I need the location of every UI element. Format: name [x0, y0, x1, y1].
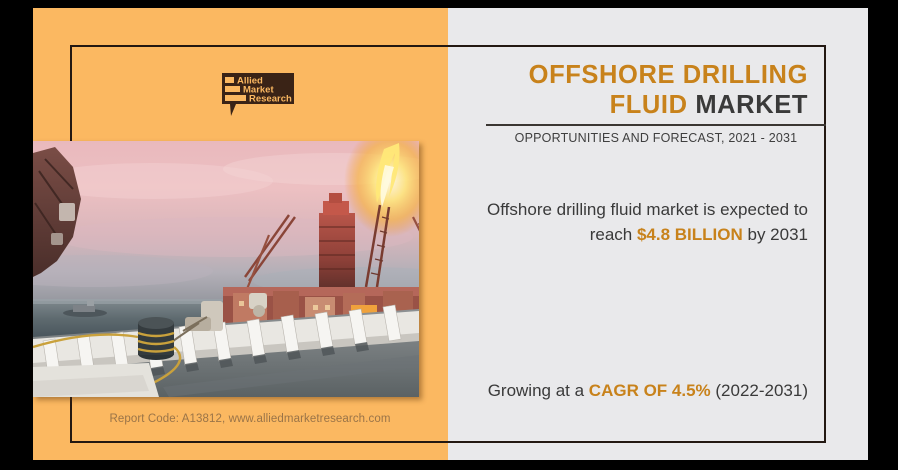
stat-2-suffix: (2022-2031): [711, 381, 808, 400]
stat-1-suffix: by 2031: [743, 225, 808, 244]
stat-1-highlight: $4.8 BILLION: [637, 225, 743, 244]
title-line-1: OFFSHORE DRILLING: [468, 60, 808, 90]
stat-2-highlight: CAGR OF 4.5%: [589, 381, 711, 400]
allied-market-research-logo: Allied Market Research: [220, 72, 296, 118]
stat-2-prefix: Growing at a: [488, 381, 589, 400]
title-accent-2: FLUID: [610, 91, 688, 119]
report-code-caption: Report Code: A13812, www.alliedmarketres…: [70, 413, 430, 425]
stat-cagr: Growing at a CAGR OF 4.5% (2022-2031): [476, 377, 808, 404]
logo-line-3: Research: [249, 94, 292, 105]
page-title: OFFSHORE DRILLING FLUID MARKET: [468, 60, 808, 120]
stat-market-value: Offshore drilling fluid market is expect…: [476, 197, 808, 247]
title-line-2: FLUID MARKET: [468, 90, 808, 120]
title-plain: MARKET: [688, 91, 808, 119]
subtitle: OPPORTUNITIES AND FORECAST, 2021 - 2031: [486, 131, 826, 145]
report-banner: Allied Market Research: [0, 0, 898, 470]
title-accent-1: OFFSHORE DRILLING: [529, 61, 808, 89]
offshore-rig-photo: [33, 141, 419, 397]
title-divider: [486, 124, 826, 126]
